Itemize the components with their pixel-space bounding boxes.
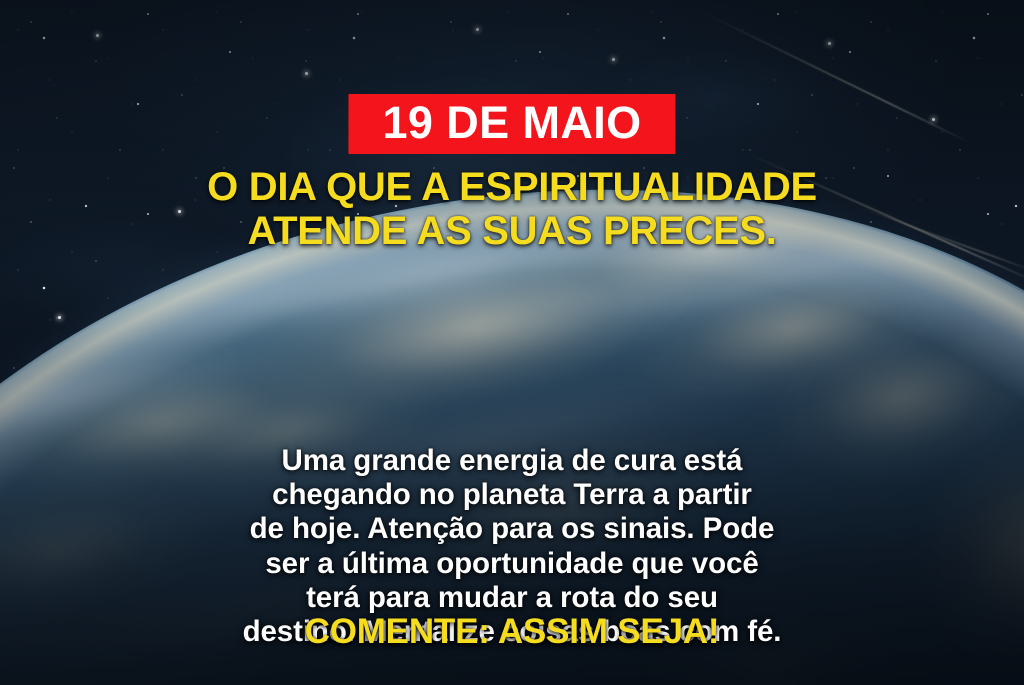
call-to-action-text: COMENTE: ASSIM SEJA!	[0, 612, 1024, 652]
poster-canvas: 19 DE MAIO O DIA QUE A ESPIRITUALIDADE A…	[0, 0, 1024, 685]
headline-line-1: O DIA QUE A ESPIRITUALIDADE	[26, 166, 998, 210]
headline: O DIA QUE A ESPIRITUALIDADE ATENDE AS SU…	[0, 166, 1024, 253]
date-banner: 19 DE MAIO	[348, 94, 675, 154]
body-line-2: chegando no planeta Terra a partir	[56, 478, 968, 512]
body-line-1: Uma grande energia de cura está	[56, 444, 968, 478]
body-line-3: de hoje. Atenção para os sinais. Pode	[56, 512, 968, 546]
body-line-5: terá para mudar a rota do seu	[56, 581, 968, 615]
date-banner-label: 19 DE MAIO	[382, 100, 641, 145]
headline-line-2: ATENDE AS SUAS PRECES.	[26, 210, 998, 254]
body-line-4: ser a última oportunidade que você	[56, 547, 968, 581]
poster-content: 19 DE MAIO O DIA QUE A ESPIRITUALIDADE A…	[0, 0, 1024, 685]
